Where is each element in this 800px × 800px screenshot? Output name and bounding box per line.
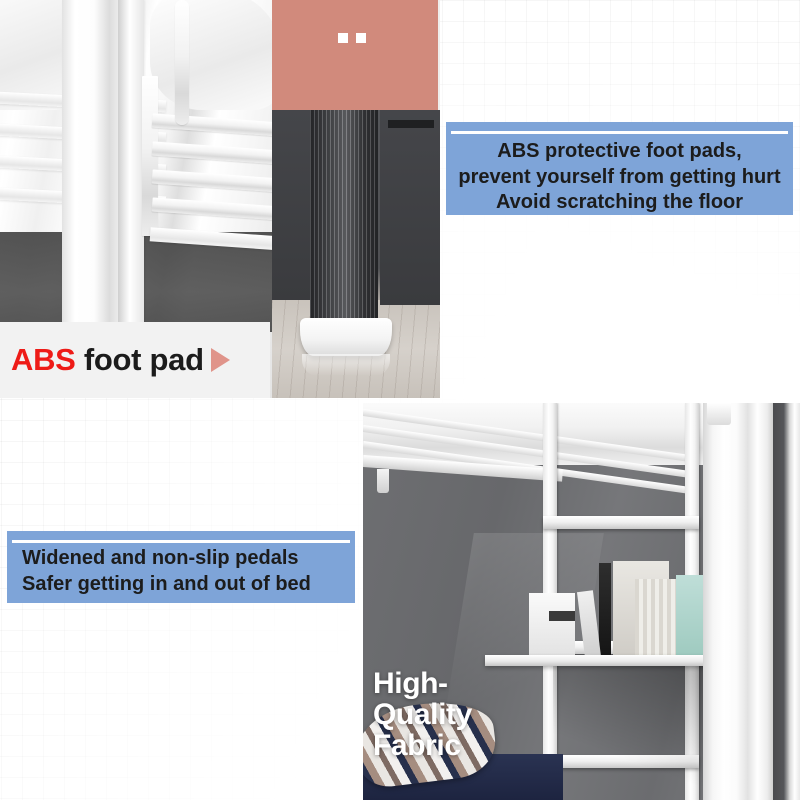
banner-highlight-word: ABS <box>11 342 76 377</box>
high-quality-fabric-label: High- Quality Fabric <box>373 668 472 761</box>
notebook <box>635 579 679 658</box>
caption-abs-foot-pads: ABS protective foot pads, prevent yourse… <box>446 122 793 215</box>
white-bed-post <box>703 403 773 800</box>
caption-abs-foot-pads-text: ABS protective foot pads, prevent yourse… <box>446 139 793 216</box>
support-pole <box>175 0 189 125</box>
salmon-color-block <box>272 0 438 110</box>
box-slot <box>549 611 575 621</box>
ladder-step <box>543 516 699 529</box>
bed-post-edge <box>773 403 800 800</box>
play-triangle-icon <box>211 348 230 372</box>
abs-foot-pad-photo: ABS foot pad <box>0 0 440 398</box>
foot-pad-reflection <box>302 354 390 376</box>
caption-non-slip-pedals-text: Widened and non-slip pedals Safer gettin… <box>7 546 355 597</box>
bed-rail-end-cap <box>377 469 389 493</box>
banner-rest-word: foot pad <box>76 342 204 377</box>
bedding-fold <box>150 0 280 110</box>
bed-post-cap <box>707 403 731 425</box>
abs-foot-pad-banner-text: ABS foot pad <box>0 342 230 378</box>
dark-bed-post <box>310 110 378 325</box>
abs-foot-pad <box>300 318 392 356</box>
book <box>599 563 611 658</box>
white-dot <box>338 33 348 43</box>
guard-rail-upright <box>142 76 158 236</box>
abs-foot-pad-banner: ABS foot pad <box>0 322 270 398</box>
dark-cabinet <box>380 110 440 305</box>
caption-divider-rule <box>451 131 788 134</box>
white-dot <box>356 33 366 43</box>
cabinet-handle <box>388 120 434 128</box>
white-box <box>529 593 575 658</box>
product-feature-collage: ABS foot pad ABS protective foot pads, p… <box>0 0 800 800</box>
caption-divider-rule <box>12 540 350 543</box>
caption-non-slip-pedals: Widened and non-slip pedals Safer gettin… <box>7 531 355 603</box>
